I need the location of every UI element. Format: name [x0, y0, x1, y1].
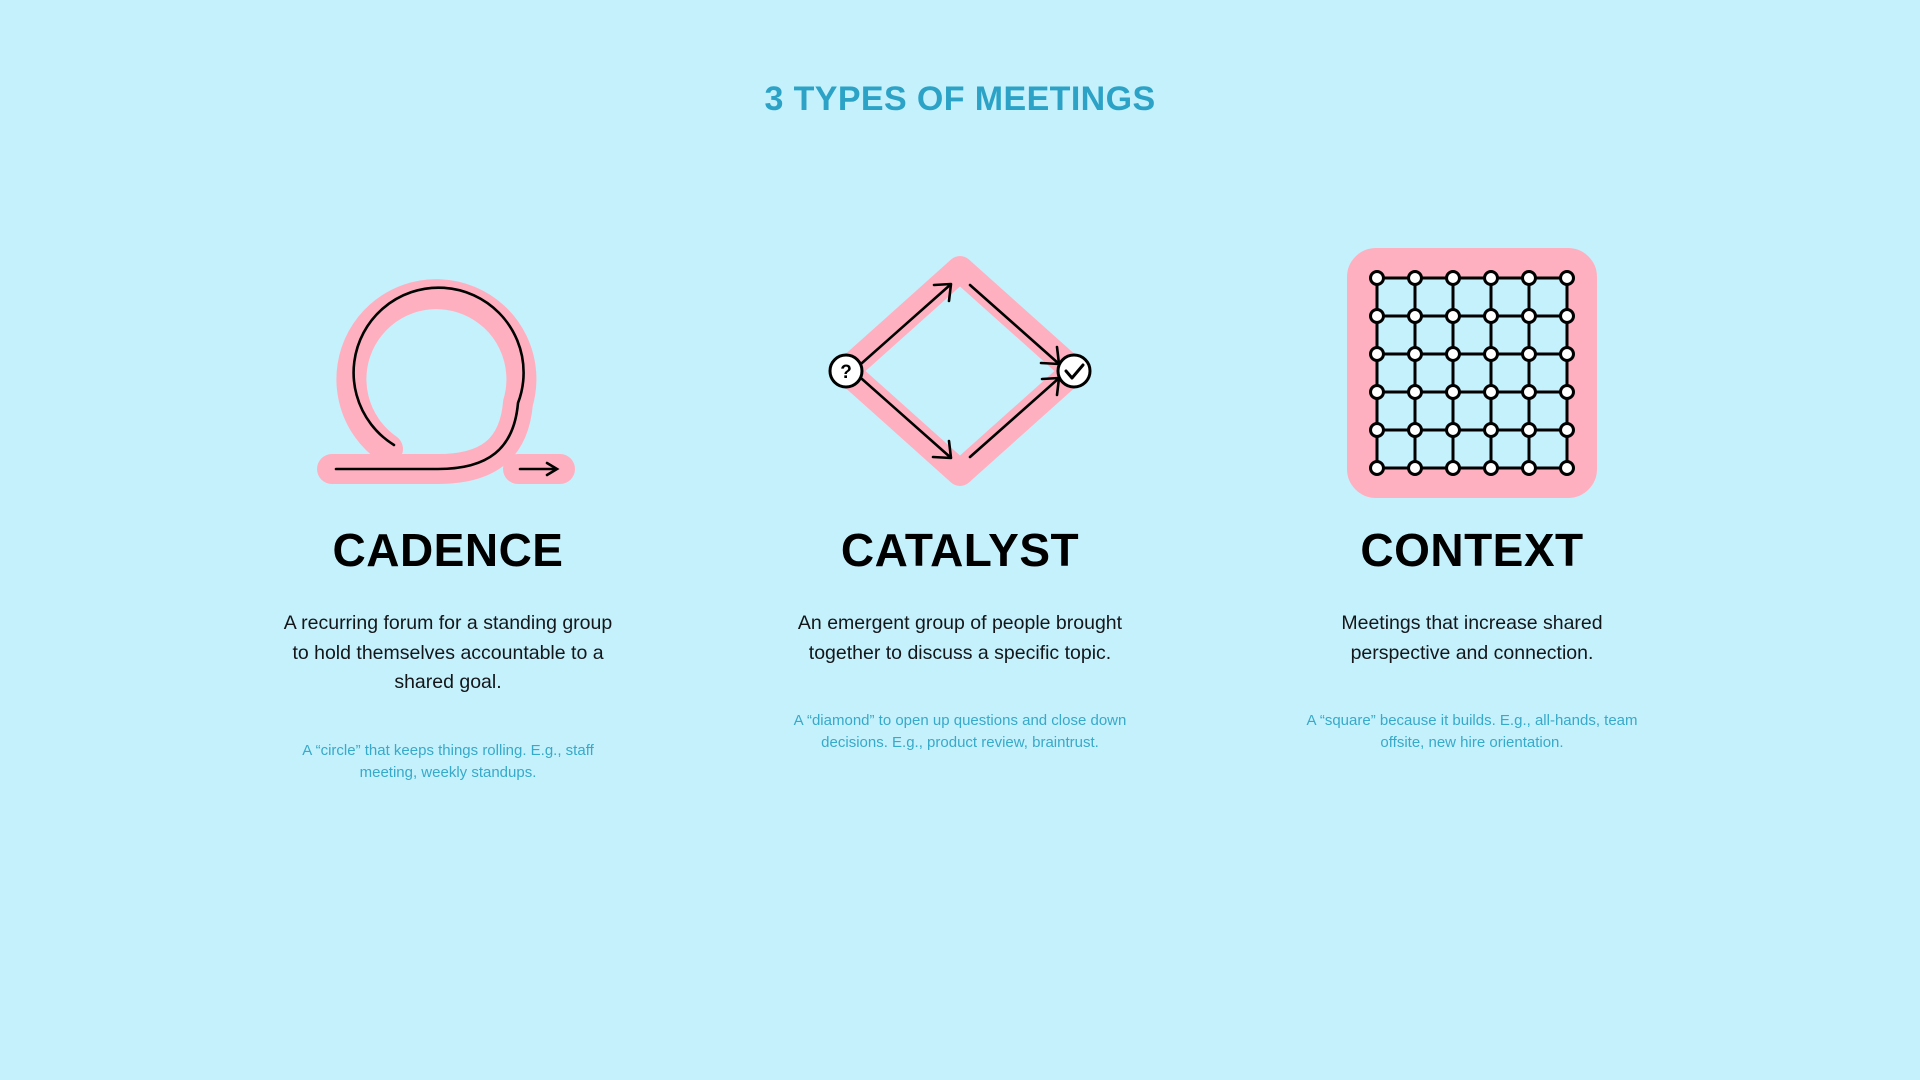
card-description-context: Meetings that increase shared perspectiv… — [1307, 609, 1637, 668]
card-description-catalyst: An emergent group of people brought toge… — [795, 609, 1125, 668]
page-title: 3 TYPES OF MEETINGS — [0, 80, 1920, 119]
card-cadence: CADENCE A recurring forum for a standing… — [192, 240, 704, 783]
card-catalyst: ? CATALYST An emergent group of people b… — [704, 240, 1216, 754]
loop-circle-arrow-icon — [298, 240, 598, 505]
card-title-cadence: CADENCE — [333, 527, 564, 573]
question-node: ? — [830, 355, 862, 387]
diamond-question-check-icon: ? — [810, 240, 1110, 505]
card-title-context: CONTEXT — [1360, 527, 1583, 573]
card-columns: CADENCE A recurring forum for a standing… — [0, 240, 1920, 783]
card-note-catalyst: A “diamond” to open up questions and clo… — [785, 710, 1135, 754]
card-note-cadence: A “circle” that keeps things rolling. E.… — [273, 740, 623, 784]
card-title-catalyst: CATALYST — [841, 527, 1079, 573]
card-description-cadence: A recurring forum for a standing group t… — [283, 609, 613, 698]
infographic-page: 3 TYPES OF MEETINGS — [0, 0, 1920, 1080]
card-note-context: A “square” because it builds. E.g., all-… — [1297, 710, 1647, 754]
card-context: CONTEXT Meetings that increase shared pe… — [1216, 240, 1728, 754]
grid-square-icon — [1322, 240, 1622, 505]
check-node — [1058, 355, 1090, 387]
svg-text:?: ? — [840, 362, 852, 383]
